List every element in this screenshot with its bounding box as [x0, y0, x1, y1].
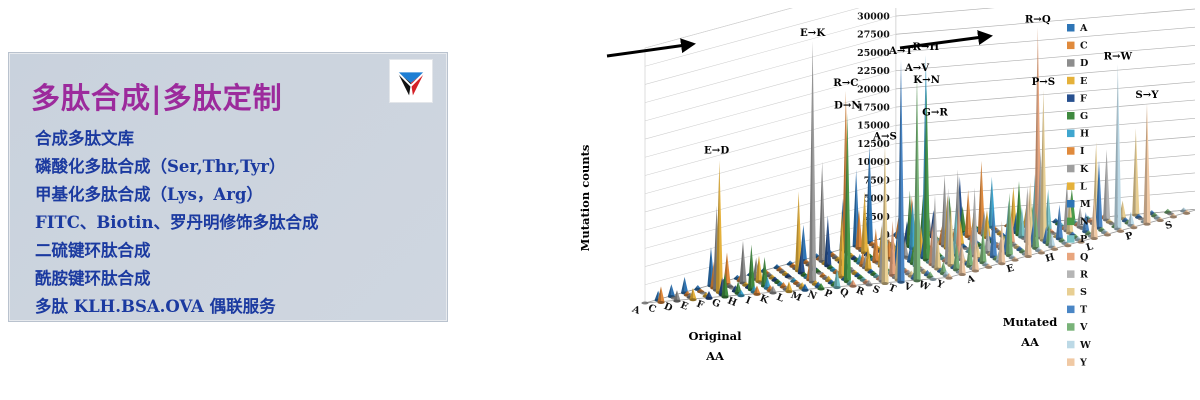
- bar-annotation: K→N: [913, 74, 940, 86]
- legend-label: Q: [1080, 252, 1088, 263]
- legend-label: I: [1080, 146, 1085, 157]
- legend-swatch: [1067, 77, 1075, 85]
- depth-axis-title-2: AA: [1020, 335, 1040, 349]
- bar-annotation: E→K: [800, 27, 826, 39]
- promo-service-list: 合成多肽文库 磷酸化多肽合成（Ser,Thr,Tyr） 甲基化多肽合成（Lys，…: [35, 125, 435, 321]
- z-tick-label: 27500: [857, 30, 890, 41]
- legend-label: N: [1080, 217, 1089, 228]
- legend-swatch: [1067, 253, 1075, 260]
- legend-swatch: [1067, 94, 1075, 102]
- bar-annotation: P→S: [1032, 76, 1056, 88]
- legend-swatch: [1067, 130, 1075, 138]
- company-logo-icon: [389, 59, 433, 103]
- list-item: 酰胺键环肽合成: [35, 265, 435, 293]
- legend-swatch: [1067, 306, 1075, 314]
- mutation-counts-3d-chart: 3500032500300002750025000225002000017500…: [575, 8, 1195, 398]
- list-item: 甲基化多肽合成（Lys，Arg）: [35, 181, 435, 209]
- list-item: 二硫键环肽合成: [35, 237, 435, 265]
- bar-annotation: R→C: [833, 77, 858, 89]
- legend-label: C: [1080, 41, 1088, 52]
- x-axis-title: Original: [688, 329, 742, 343]
- z-tick-label: 17500: [857, 103, 890, 114]
- legend-swatch: [1067, 288, 1075, 296]
- z-tick-label: 20000: [857, 84, 890, 95]
- legend-swatch: [1067, 270, 1075, 278]
- legend-label: V: [1079, 322, 1088, 333]
- bar-annotation: R→Q: [1025, 13, 1051, 25]
- promo-title: 多肽合成|多肽定制: [31, 75, 283, 117]
- legend-swatch: [1067, 341, 1075, 349]
- bar-annotation: A→S: [872, 130, 897, 142]
- bar-annotation: D→N: [834, 99, 861, 111]
- z-tick-label: 22500: [857, 66, 890, 77]
- legend-swatch: [1067, 323, 1075, 331]
- legend-swatch: [1067, 182, 1075, 190]
- z-tick-label: 25000: [857, 48, 890, 59]
- legend-label: Y: [1079, 357, 1087, 368]
- promo-panel: 多肽合成|多肽定制 合成多肽文库 磷酸化多肽合成（Ser,Thr,Tyr） 甲基…: [8, 52, 448, 322]
- chart-canvas: 3500032500300002750025000225002000017500…: [575, 8, 1195, 398]
- legend-swatch: [1067, 24, 1075, 32]
- bar-annotation: E→D: [704, 144, 729, 156]
- legend-label: S: [1080, 287, 1087, 298]
- list-item: FITC、Biotin、罗丹明修饰多肽合成: [35, 209, 435, 237]
- bar-annotation: G→R: [922, 106, 948, 118]
- legend-label: R: [1080, 269, 1089, 280]
- z-tick-label: 30000: [857, 11, 890, 22]
- list-item: 多肽 KLH.BSA.OVA 偶联服务: [35, 293, 435, 321]
- screenshot-root: 多肽合成|多肽定制 合成多肽文库 磷酸化多肽合成（Ser,Thr,Tyr） 甲基…: [0, 0, 1200, 400]
- legend-label: H: [1080, 129, 1089, 140]
- legend-label: D: [1080, 58, 1088, 69]
- legend-label: A: [1079, 23, 1088, 34]
- legend-label: E: [1080, 76, 1087, 87]
- list-item: 合成多肽文库: [35, 125, 435, 153]
- bar-base-marker: [641, 302, 648, 305]
- legend-label: K: [1080, 164, 1089, 175]
- z-axis-title: Mutation counts: [578, 145, 592, 252]
- legend-label: M: [1080, 199, 1091, 210]
- legend-label: F: [1080, 93, 1087, 104]
- bar-annotation: S→Y: [1135, 89, 1159, 101]
- legend-swatch: [1067, 218, 1075, 226]
- bar-annotation: A→V: [904, 62, 930, 74]
- legend-swatch: [1067, 42, 1075, 50]
- legend-swatch: [1067, 200, 1075, 208]
- depth-axis-title: Mutated: [1003, 315, 1058, 329]
- list-item: 磷酸化多肽合成（Ser,Thr,Tyr）: [35, 153, 435, 181]
- legend-label: P: [1080, 234, 1087, 245]
- legend-swatch: [1067, 358, 1075, 366]
- legend-label: T: [1080, 305, 1088, 316]
- legend-swatch: [1067, 165, 1075, 173]
- z-tick-label: 7500: [864, 175, 891, 186]
- legend-label: G: [1080, 111, 1088, 122]
- x-axis-title-2: AA: [705, 349, 725, 363]
- legend-swatch: [1067, 235, 1075, 243]
- legend-label: L: [1080, 181, 1087, 192]
- legend-swatch: [1067, 112, 1075, 120]
- legend-swatch: [1067, 147, 1075, 155]
- legend-label: W: [1079, 340, 1091, 351]
- bar-annotation: R→W: [1104, 50, 1133, 62]
- legend-swatch: [1067, 59, 1075, 66]
